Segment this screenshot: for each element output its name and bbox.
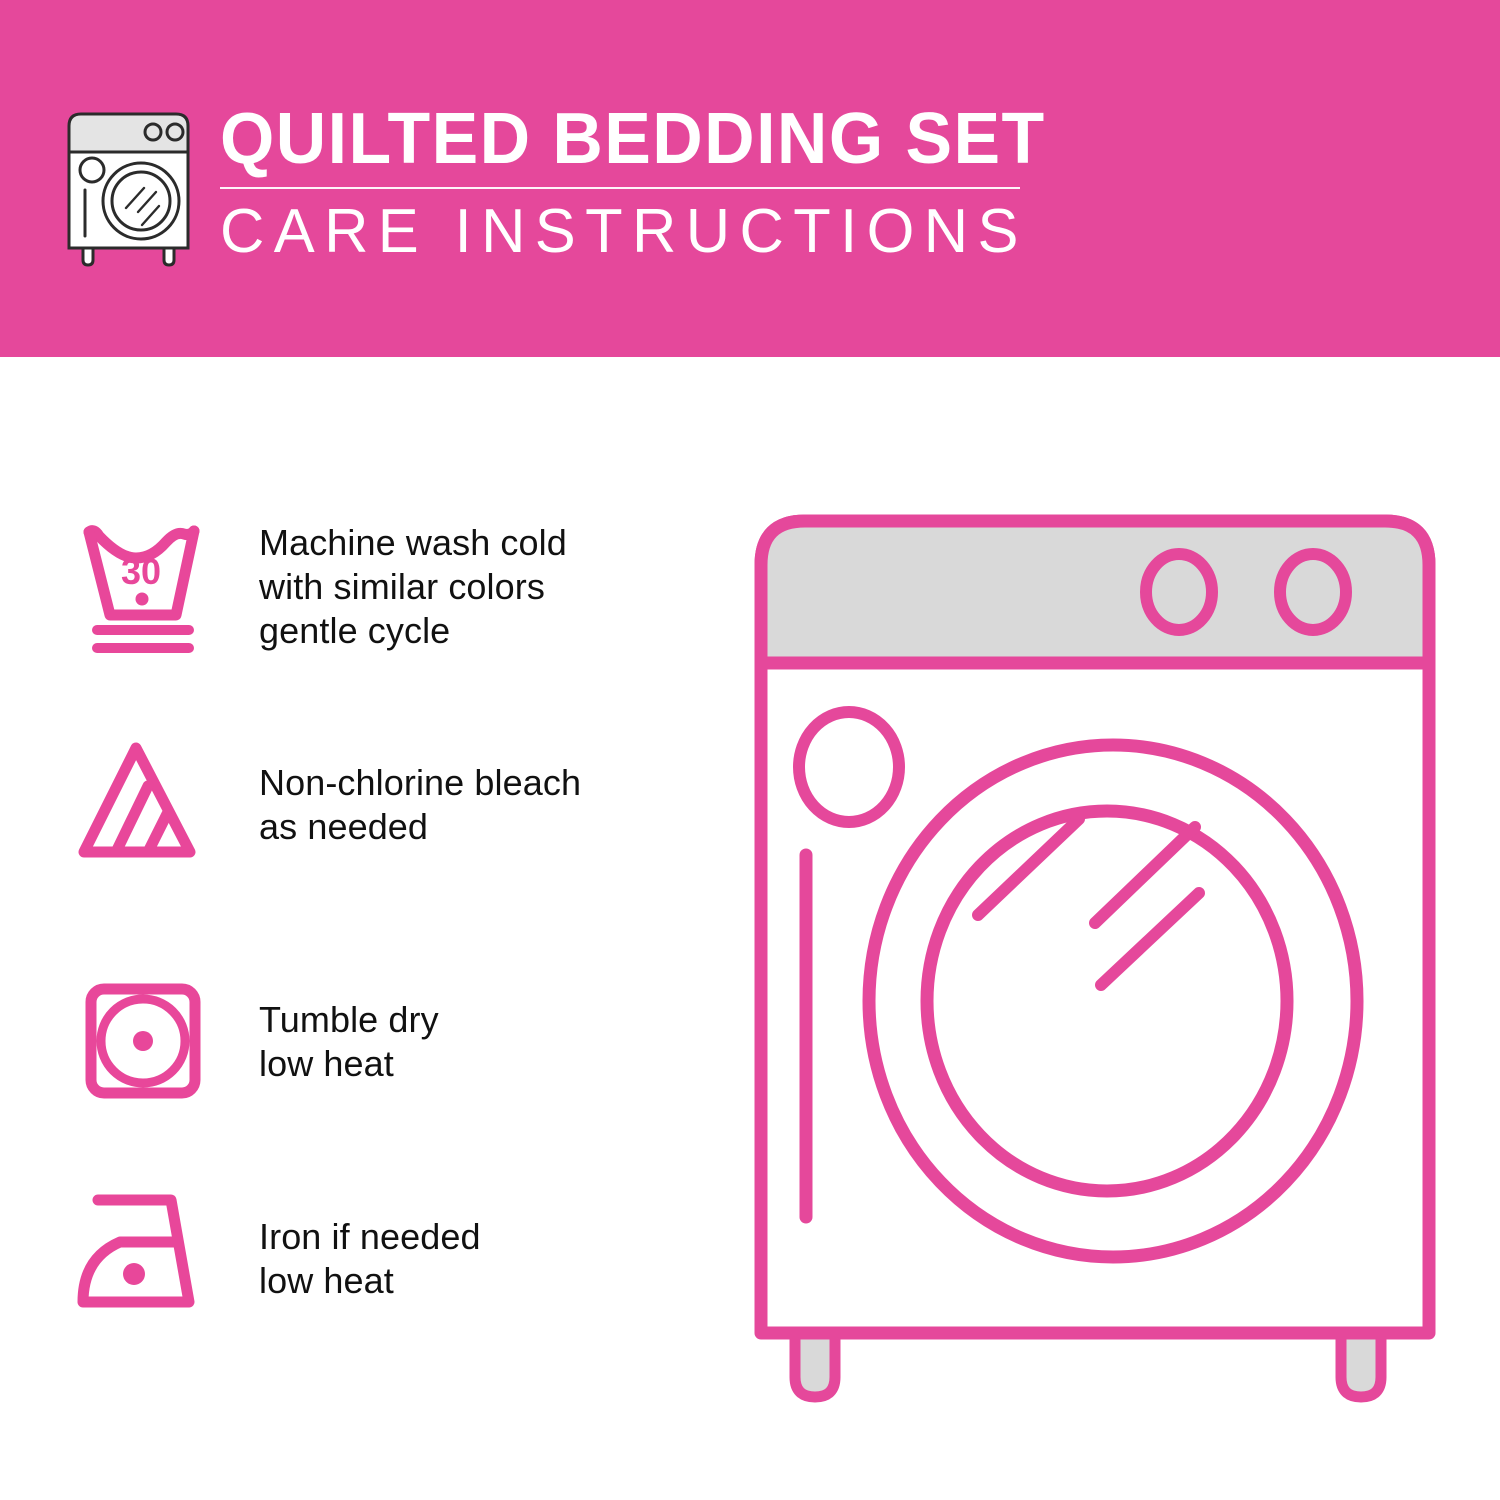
washing-machine-graphic	[735, 495, 1455, 1425]
care-item-label: Non-chlorine bleach as needed	[259, 761, 581, 849]
care-item-label: Tumble dry low heat	[259, 998, 439, 1086]
care-item-tumble-dry: Tumble dry low heat	[72, 967, 439, 1117]
header-banner: QUILTED BEDDING SET CARE INSTRUCTIONS	[0, 0, 1500, 357]
machine-legs	[795, 1333, 1381, 1397]
header-content: QUILTED BEDDING SET CARE INSTRUCTIONS	[62, 100, 1071, 268]
knob-2	[1280, 554, 1346, 630]
wash-temperature-label: 30	[121, 551, 161, 592]
gentle-bar-2	[92, 643, 194, 653]
iron-low-heat-icon	[72, 1184, 237, 1334]
care-item-label: Machine wash cold with similar colors ge…	[259, 521, 567, 653]
dry-heat-dot	[133, 1031, 153, 1051]
care-item-label: Iron if needed low heat	[259, 1215, 481, 1303]
knob-1	[1146, 554, 1212, 630]
large-washing-machine-illustration	[735, 495, 1455, 1425]
wash-basin-30-gentle-icon: 30	[72, 512, 237, 662]
care-instructions-page: QUILTED BEDDING SET CARE INSTRUCTIONS 30…	[0, 0, 1500, 1500]
care-item-iron: Iron if needed low heat	[72, 1184, 481, 1334]
header-titles: QUILTED BEDDING SET CARE INSTRUCTIONS	[220, 100, 1071, 265]
washing-machine-icon	[62, 108, 195, 268]
care-item-machine-wash: 30 Machine wash cold with similar colors…	[72, 512, 567, 662]
bleach-triangle-non-chlorine-icon	[72, 730, 237, 880]
page-title: QUILTED BEDDING SET	[220, 100, 1046, 178]
door-inner-ring	[927, 811, 1287, 1191]
care-item-bleach: Non-chlorine bleach as needed	[72, 730, 581, 880]
gentle-bar-1	[92, 625, 194, 635]
tumble-dry-low-heat-icon	[72, 967, 237, 1117]
page-subtitle: CARE INSTRUCTIONS	[220, 199, 1063, 265]
iron-heat-dot	[123, 1263, 145, 1285]
title-divider	[220, 187, 1020, 189]
wash-dot	[136, 593, 149, 606]
indicator-light	[799, 712, 899, 822]
